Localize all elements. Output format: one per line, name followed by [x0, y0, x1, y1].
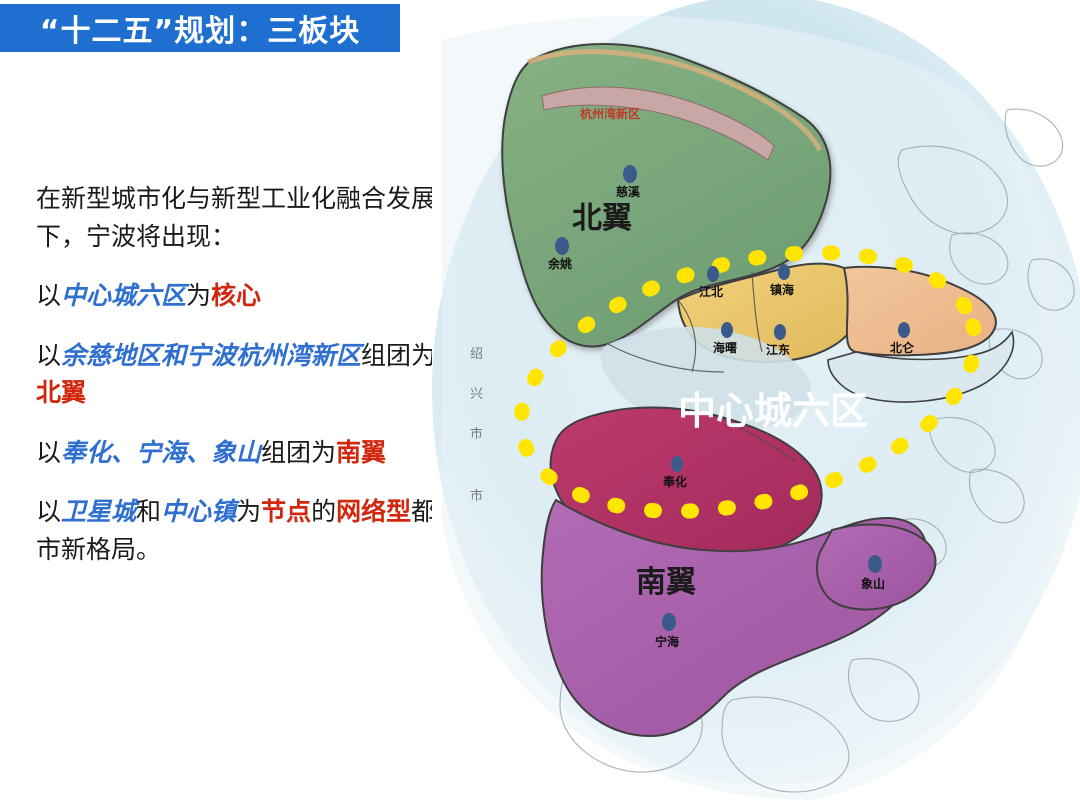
text-span-network-3: 中心镇 [161, 497, 236, 526]
text-span-network-0: 以 [36, 497, 61, 526]
city-label-haishu: 海曙 [713, 340, 737, 355]
text-span-south-2: 组团为 [261, 438, 336, 467]
bullet-network: 以卫星城和中心镇为节点的网络型都市新格局。 [36, 493, 446, 568]
svg-text:兴: 兴 [470, 387, 483, 402]
city-label-xiangshan: 象山 [861, 576, 885, 591]
text-span-north-0: 以 [36, 341, 61, 370]
text-span-south-3: 南翼 [336, 438, 386, 467]
slide-title-banner: “十二五”规划：三板块 [0, 4, 400, 52]
text-span-network-5: 节点 [261, 497, 311, 526]
slide-title-text: “十二五”规划：三板块 [40, 6, 360, 50]
text-span-network-7: 网络型 [336, 497, 411, 526]
city-label-zhenhai: 镇海 [770, 282, 794, 297]
text-span-network-1: 卫星城 [61, 497, 136, 526]
bullet-north-wing: 以余慈地区和宁波杭州湾新区组团为北翼 [36, 337, 446, 412]
city-label-cixi: 慈溪 [616, 184, 641, 199]
text-span-core-2: 为 [186, 281, 211, 310]
city-label-beilun: 北仑 [890, 340, 915, 355]
text-span-south-0: 以 [36, 438, 61, 467]
city-label-ninghai: 宁海 [655, 634, 679, 649]
region-label-core-six-districts: 中心城六区 [678, 389, 868, 433]
text-span-core-1: 中心城六区 [61, 281, 186, 310]
intro-paragraph: 在新型城市化与新型工业化融合发展下，宁波将出现： [36, 180, 446, 255]
text-span-network-6: 的 [311, 497, 336, 526]
region-label-north-wing: 北翼 [572, 201, 632, 236]
city-label-yuyao: 余姚 [547, 256, 572, 271]
text-span-north-3: 北翼 [36, 378, 86, 407]
region-label-south-wing: 南翼 [636, 565, 696, 600]
svg-text:市: 市 [470, 488, 483, 504]
text-span-core-0: 以 [36, 281, 61, 310]
text-span-network-2: 和 [136, 497, 161, 526]
bullet-south-wing: 以奉化、宁海、象山组团为南翼 [36, 434, 446, 472]
city-label-fenghua: 奉化 [662, 474, 687, 489]
city-label-jiangdong: 江东 [766, 342, 790, 357]
city-label-jiangbei: 江北 [699, 284, 723, 299]
bullet-core: 以中心城六区为核心 [36, 277, 446, 315]
text-span-south-1: 奉化、宁海、象山 [61, 438, 261, 467]
hangzhou-bay-new-zone-label: 杭州湾新区 [580, 106, 640, 121]
text-span-core-3: 核心 [211, 281, 261, 310]
text-column: 在新型城市化与新型工业化融合发展下，宁波将出现： 以中心城六区为核心 以余慈地区… [36, 180, 446, 590]
map-area: 杭州湾新区 慈溪 [432, 0, 1080, 810]
text-span-north-1: 余慈地区和宁波杭州湾新区 [61, 341, 361, 370]
svg-text:市: 市 [470, 426, 483, 442]
text-span-network-4: 为 [236, 497, 261, 526]
text-span-north-2: 组团为 [361, 341, 436, 370]
svg-text:绍: 绍 [470, 347, 483, 362]
